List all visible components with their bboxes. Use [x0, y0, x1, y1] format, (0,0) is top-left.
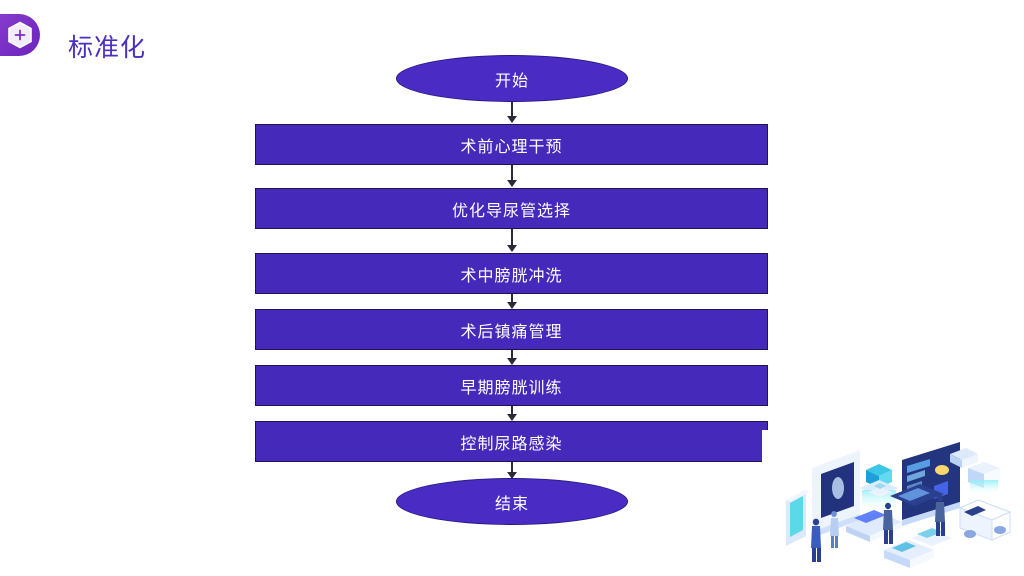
illustration-healthcare-tech — [762, 430, 1024, 576]
flow-arrowhead-step1 — [507, 116, 517, 123]
flow-node-step5[interactable]: 早期膀胱训练 — [255, 365, 768, 406]
flow-node-label: 早期膀胱训练 — [460, 374, 562, 398]
flow-node-label: 术后镇痛管理 — [460, 318, 562, 342]
flow-node-label: 优化导尿管选择 — [452, 197, 571, 221]
flow-node-label: 控制尿路感染 — [460, 430, 562, 454]
flow-node-step2[interactable]: 优化导尿管选择 — [255, 188, 768, 229]
slide-canvas: 标准化 开始 术前心理干预 优化导尿管选择 术中膀胱冲洗 术后镇痛管理 — [0, 0, 1024, 576]
flow-node-label: 开始 — [495, 67, 529, 91]
flow-arrowhead-step2 — [507, 180, 517, 187]
flow-node-label: 术中膀胱冲洗 — [460, 262, 562, 286]
flow-node-label: 结束 — [495, 490, 529, 514]
flow-arrowhead-step4 — [507, 302, 517, 309]
flow-node-label: 术前心理干预 — [460, 133, 562, 157]
flow-node-start[interactable]: 开始 — [396, 55, 628, 102]
flow-node-step4[interactable]: 术后镇痛管理 — [255, 309, 768, 350]
flow-arrowhead-step3 — [507, 245, 517, 252]
isometric-healthcare-illustration — [762, 430, 1024, 576]
flow-node-step1[interactable]: 术前心理干预 — [255, 124, 768, 165]
flow-node-step6[interactable]: 控制尿路感染 — [255, 421, 768, 462]
flow-node-end[interactable]: 结束 — [396, 478, 628, 525]
flow-node-step3[interactable]: 术中膀胱冲洗 — [255, 253, 768, 294]
flow-arrowhead-step6 — [507, 414, 517, 421]
flow-arrowhead-step5 — [507, 358, 517, 365]
